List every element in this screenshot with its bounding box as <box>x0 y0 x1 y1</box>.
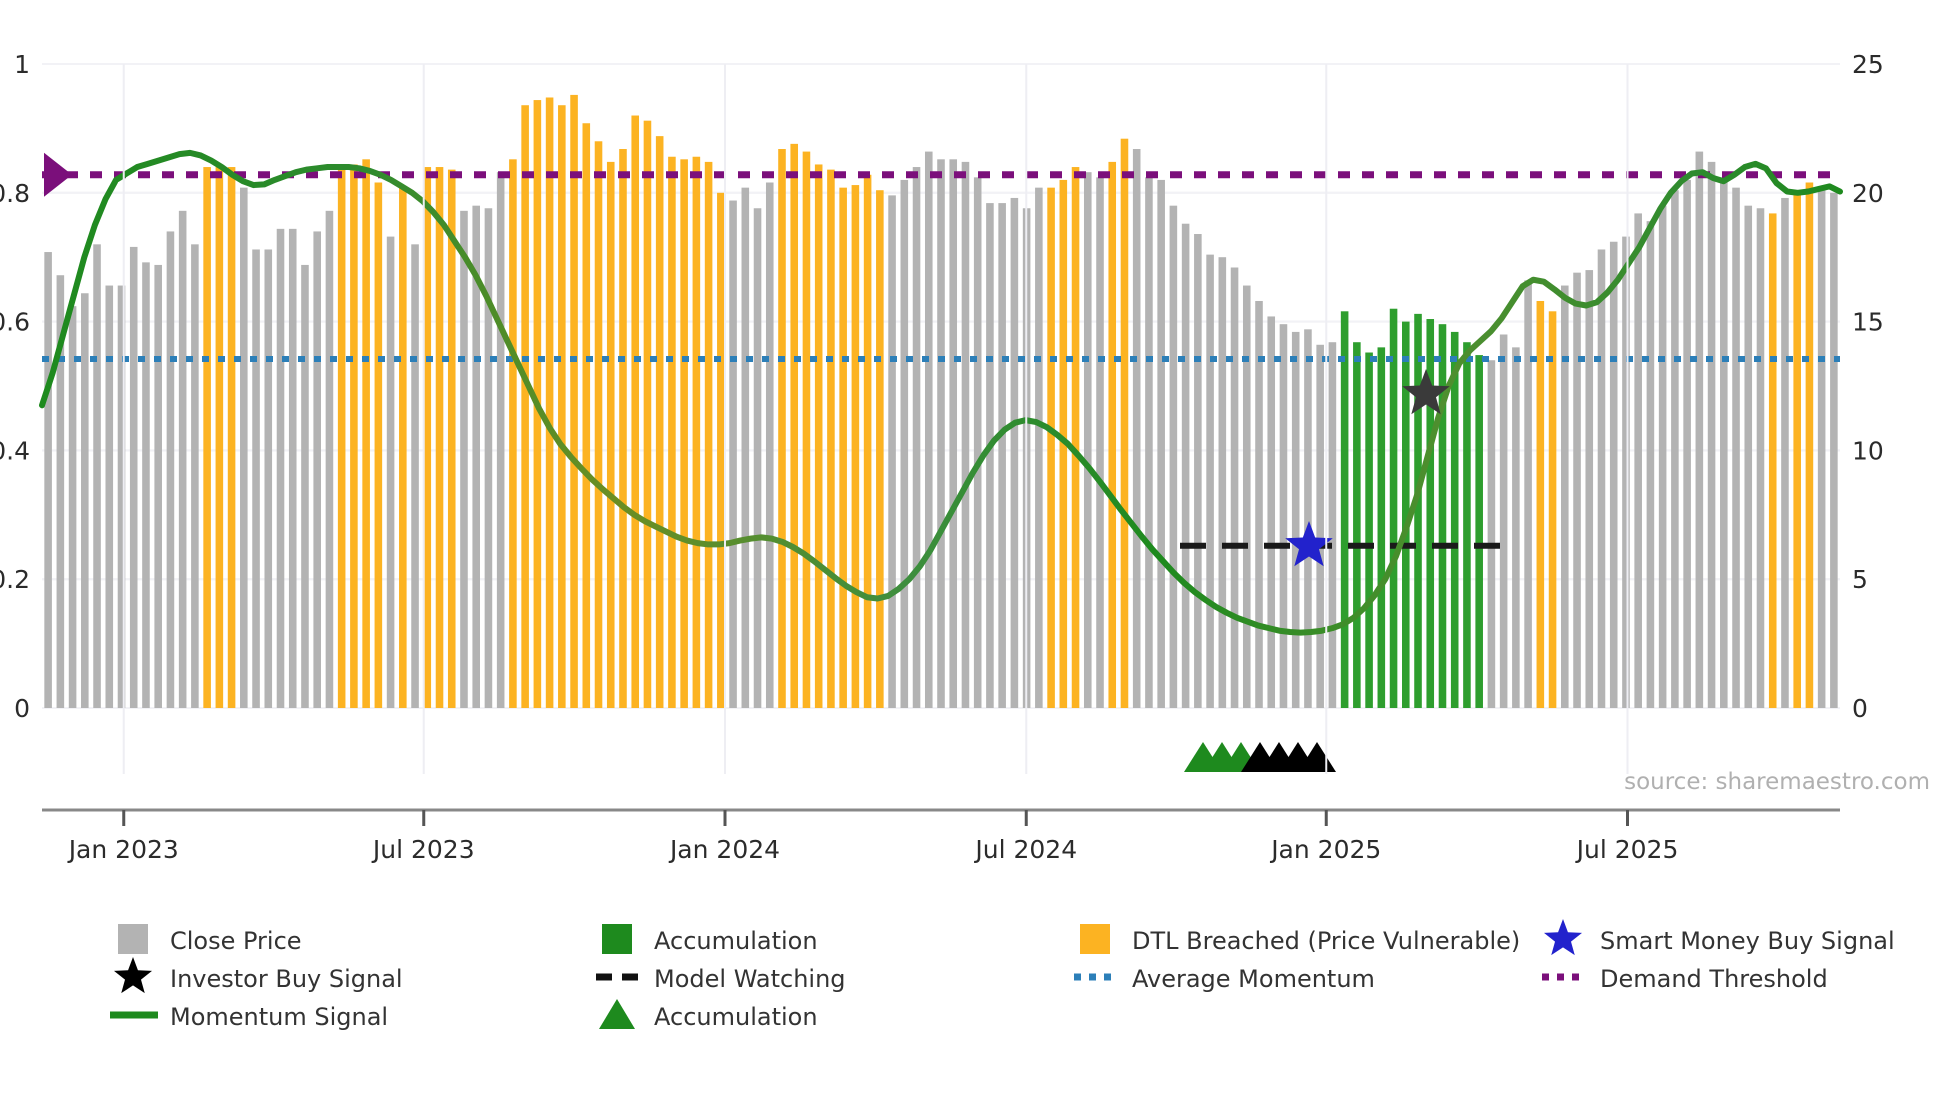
x-tick-jul-2025: Jul 2025 <box>1575 835 1679 864</box>
bar <box>1145 177 1153 708</box>
y-left-tick-1: 1 <box>14 50 30 79</box>
bar <box>876 190 884 708</box>
close-price-label: Close Price <box>170 927 302 955</box>
bar <box>485 208 493 708</box>
bar <box>619 149 627 708</box>
bar <box>1206 255 1214 708</box>
bar <box>1084 172 1092 708</box>
bar <box>521 105 529 708</box>
bar <box>962 162 970 708</box>
bar <box>362 159 370 708</box>
bar <box>595 141 603 708</box>
x-tick-jul-2023: Jul 2023 <box>371 835 475 864</box>
bar <box>974 177 982 708</box>
legend-item-model-watching[interactable]: Model Watching <box>596 965 846 993</box>
bar <box>1121 139 1129 708</box>
bar <box>986 203 994 708</box>
bar <box>998 203 1006 708</box>
y-right-tick-5: 5 <box>1852 565 1868 594</box>
bar <box>1035 188 1043 708</box>
bar <box>790 144 798 708</box>
source-attribution: source: sharemaestro.com <box>1624 769 1930 795</box>
dtl-breached-label: DTL Breached (Price Vulnerable) <box>1132 927 1520 955</box>
x-tick-jan-2024: Jan 2024 <box>668 835 780 864</box>
bar <box>179 211 187 708</box>
legend-item-momentum-signal[interactable]: Momentum Signal <box>110 1003 388 1031</box>
bar <box>313 231 321 708</box>
accumulation-triangle-label: Accumulation <box>654 1003 818 1031</box>
bar <box>399 188 407 708</box>
bar <box>1647 221 1655 708</box>
bar <box>448 170 456 708</box>
x-tick-jan-2025: Jan 2025 <box>1269 835 1381 864</box>
bar <box>570 95 578 708</box>
investor-buy-signal-label: Investor Buy Signal <box>170 965 403 993</box>
bar <box>1329 342 1337 708</box>
y-left-tick-0.4: 0.4 <box>0 436 30 465</box>
y-left-tick-0.6: 0.6 <box>0 308 30 337</box>
bar <box>252 249 260 708</box>
bar <box>264 249 272 708</box>
bar <box>1598 249 1606 708</box>
bar <box>949 159 957 708</box>
bar <box>1108 162 1116 708</box>
legend-item-average-momentum[interactable]: Average Momentum <box>1074 965 1375 993</box>
bar <box>460 211 468 708</box>
accumulation-triangle-triangle-icon <box>599 999 635 1029</box>
bar <box>1414 314 1422 708</box>
bar <box>1549 311 1557 708</box>
bar <box>1341 311 1349 708</box>
bar <box>375 183 383 709</box>
bar <box>1671 190 1679 708</box>
bar <box>1072 167 1080 708</box>
bar <box>1720 177 1728 708</box>
bar <box>631 116 639 708</box>
bar <box>937 159 945 708</box>
bar <box>93 244 101 708</box>
bar <box>729 201 737 708</box>
bar <box>607 162 615 708</box>
bar <box>1316 345 1324 708</box>
bar <box>216 167 224 708</box>
bar <box>1524 280 1532 708</box>
bar <box>338 167 346 708</box>
bar <box>803 152 811 708</box>
bar <box>1708 162 1716 708</box>
bar <box>289 229 297 708</box>
legend-item-demand-threshold[interactable]: Demand Threshold <box>1542 965 1828 993</box>
bar <box>1011 198 1019 708</box>
bar <box>228 167 236 708</box>
bar <box>1463 342 1471 708</box>
bar <box>105 286 113 708</box>
bar <box>1219 257 1227 708</box>
bar <box>1243 286 1251 708</box>
bar <box>387 237 395 708</box>
bar <box>1781 198 1789 708</box>
x-tick-jul-2024: Jul 2024 <box>973 835 1077 864</box>
legend-item-close-price[interactable]: Close Price <box>118 924 302 955</box>
bar <box>1378 347 1386 708</box>
bar <box>1194 234 1202 708</box>
bar <box>167 231 175 708</box>
bar <box>1047 188 1055 708</box>
bar <box>1500 334 1508 708</box>
y-right-tick-25: 25 <box>1852 50 1884 79</box>
bar <box>130 247 138 708</box>
y-left-tick-0.8: 0.8 <box>0 179 30 208</box>
bar <box>1488 360 1496 708</box>
bar <box>717 193 725 708</box>
legend-item-accumulation-bar[interactable]: Accumulation <box>602 924 818 955</box>
bar <box>1732 188 1740 708</box>
momentum-signal-label: Momentum Signal <box>170 1003 388 1031</box>
bar <box>1255 301 1263 708</box>
bar <box>1292 332 1300 708</box>
bar <box>1757 208 1765 708</box>
bar <box>277 229 285 708</box>
bar <box>644 121 652 708</box>
bar <box>705 162 713 708</box>
bar <box>1353 342 1361 708</box>
bar <box>69 306 77 708</box>
bar <box>1830 193 1838 708</box>
bar <box>827 170 835 708</box>
accumulation-bar-swatch-icon <box>602 924 632 954</box>
bar <box>925 152 933 708</box>
bar <box>191 244 199 708</box>
bar <box>1793 193 1801 708</box>
y-left-tick-0.2: 0.2 <box>0 565 30 594</box>
bar <box>852 185 860 708</box>
y-right-tick-15: 15 <box>1852 308 1884 337</box>
bar <box>81 293 89 708</box>
bar <box>1622 237 1630 708</box>
bar <box>142 262 150 708</box>
bar <box>436 167 444 708</box>
close-price-bars <box>44 95 1837 708</box>
bar <box>864 175 872 708</box>
smart-money-buy-signal-star-icon <box>1544 919 1582 955</box>
bar <box>583 123 591 708</box>
investor-buy-signal-star-icon <box>114 957 152 993</box>
bar <box>693 157 701 708</box>
bar <box>1769 213 1777 708</box>
bar <box>839 188 847 708</box>
legend-item-investor-buy-signal[interactable]: Investor Buy Signal <box>114 957 403 993</box>
bar <box>240 188 248 708</box>
bar <box>668 157 676 708</box>
close-price-swatch-icon <box>118 924 148 954</box>
bar <box>1096 177 1104 708</box>
bar <box>680 159 688 708</box>
bar <box>1818 190 1826 708</box>
bar <box>411 244 419 708</box>
bar <box>1537 301 1545 708</box>
chart-canvas: 00.20.40.60.810510152025Jan 2023Jul 2023… <box>0 0 1960 1102</box>
smart-money-buy-signal-label: Smart Money Buy Signal <box>1600 927 1895 955</box>
average-momentum-label: Average Momentum <box>1132 965 1375 993</box>
bar <box>913 167 921 708</box>
bar <box>203 167 211 708</box>
legend-item-accumulation-triangle[interactable]: Accumulation <box>599 999 818 1031</box>
bar <box>509 159 517 708</box>
bar <box>778 149 786 708</box>
bar <box>326 211 334 708</box>
bar <box>815 164 823 708</box>
bar <box>888 195 896 708</box>
bar <box>1157 180 1165 708</box>
legend-item-smart-money-buy-signal[interactable]: Smart Money Buy Signal <box>1544 919 1895 955</box>
bar <box>154 265 162 708</box>
bar <box>1439 324 1447 708</box>
bar <box>1267 316 1275 708</box>
dtl-breached-swatch-icon <box>1080 924 1110 954</box>
bar <box>1231 268 1239 709</box>
bar <box>754 208 762 708</box>
bar <box>1634 213 1642 708</box>
y-right-tick-0: 0 <box>1852 694 1868 723</box>
bar <box>1170 206 1178 708</box>
bar <box>301 265 309 708</box>
bar <box>558 105 566 708</box>
bar <box>1280 324 1288 708</box>
accumulation-bar-label: Accumulation <box>654 927 818 955</box>
bar <box>1806 183 1814 709</box>
bar <box>1696 152 1704 708</box>
bar <box>1683 180 1691 708</box>
bar <box>1451 332 1459 708</box>
y-right-tick-20: 20 <box>1852 179 1884 208</box>
bar <box>766 183 774 709</box>
bar <box>1561 286 1569 708</box>
bar <box>1182 224 1190 708</box>
bar <box>656 136 664 708</box>
bar <box>1475 355 1483 708</box>
bar <box>350 164 358 708</box>
bar <box>901 180 909 708</box>
model-watching-label: Model Watching <box>654 965 846 993</box>
demand-threshold-label: Demand Threshold <box>1600 965 1828 993</box>
demand-threshold-start-marker <box>44 153 72 197</box>
bar <box>1585 270 1593 708</box>
bar <box>1610 242 1618 708</box>
x-tick-jan-2023: Jan 2023 <box>67 835 179 864</box>
bar <box>497 172 505 708</box>
bar <box>1512 347 1520 708</box>
bar <box>1390 309 1398 708</box>
bar <box>1365 353 1373 708</box>
stock-momentum-chart: 00.20.40.60.810510152025Jan 2023Jul 2023… <box>0 0 1960 1102</box>
bar <box>742 188 750 708</box>
bar <box>1659 206 1667 708</box>
chart-legend: Close PriceAccumulationDTL Breached (Pri… <box>110 919 1895 1031</box>
bar <box>1304 329 1312 708</box>
bar <box>546 97 554 708</box>
y-left-tick-0: 0 <box>14 694 30 723</box>
bar <box>1573 273 1581 708</box>
bar <box>1744 206 1752 708</box>
bar <box>44 252 52 708</box>
legend-item-dtl-breached[interactable]: DTL Breached (Price Vulnerable) <box>1080 924 1520 955</box>
bar <box>1133 149 1141 708</box>
y-right-tick-10: 10 <box>1852 436 1884 465</box>
